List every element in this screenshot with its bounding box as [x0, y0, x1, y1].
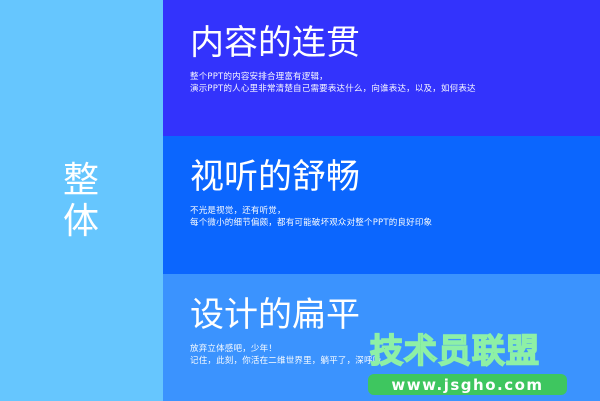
panel-subtitle-audiovisual-comfort: 不光是视觉，还有听觉， 每个微小的细节偏颇，都有可能破坏观众对整个PPT的良好印… [190, 196, 600, 229]
subtitle-line: 记住，此刻，你活在二维世界里，躺平了，深呼吸， [190, 355, 600, 367]
panel-audiovisual-comfort: 视听的舒畅 不光是视觉，还有听觉， 每个微小的细节偏颇，都有可能破坏观众对整个P… [163, 136, 600, 274]
subtitle-line: 不光是视觉，还有听觉， [190, 205, 600, 217]
subtitle-line: 整个PPT的内容安排合理富有逻辑， [190, 71, 600, 83]
left-label-column: 整 体 [0, 0, 163, 401]
panel-title-flat-design: 设计的扁平 [190, 274, 600, 334]
section-label-char-2: 体 [63, 201, 100, 242]
panel-title-audiovisual-comfort: 视听的舒畅 [190, 136, 600, 196]
panel-subtitle-flat-design: 放弃立体感吧，少年！ 记住，此刻，你活在二维世界里，躺平了，深呼吸， [190, 334, 600, 367]
panel-title-content-coherence: 内容的连贯 [190, 0, 600, 62]
section-label-overall: 整 体 [0, 0, 163, 401]
panel-content-coherence: 内容的连贯 整个PPT的内容安排合理富有逻辑， 演示PPT的人心里非常清楚自己需… [163, 0, 600, 136]
panel-stack: 内容的连贯 整个PPT的内容安排合理富有逻辑， 演示PPT的人心里非常清楚自己需… [163, 0, 600, 401]
panel-subtitle-content-coherence: 整个PPT的内容安排合理富有逻辑， 演示PPT的人心里非常清楚自己需要表达什么，… [190, 62, 600, 95]
presentation-slide: 整 体 内容的连贯 整个PPT的内容安排合理富有逻辑， 演示PPT的人心里非常清… [0, 0, 600, 401]
subtitle-line: 放弃立体感吧，少年！ [190, 343, 600, 355]
subtitle-line: 演示PPT的人心里非常清楚自己需要表达什么，向谁表达，以及，如何表达 [190, 83, 600, 95]
section-label-char-1: 整 [63, 160, 100, 201]
subtitle-line: 每个微小的细节偏颇，都有可能破坏观众对整个PPT的良好印象 [190, 217, 600, 229]
panel-flat-design: 设计的扁平 放弃立体感吧，少年！ 记住，此刻，你活在二维世界里，躺平了，深呼吸， [163, 274, 600, 401]
